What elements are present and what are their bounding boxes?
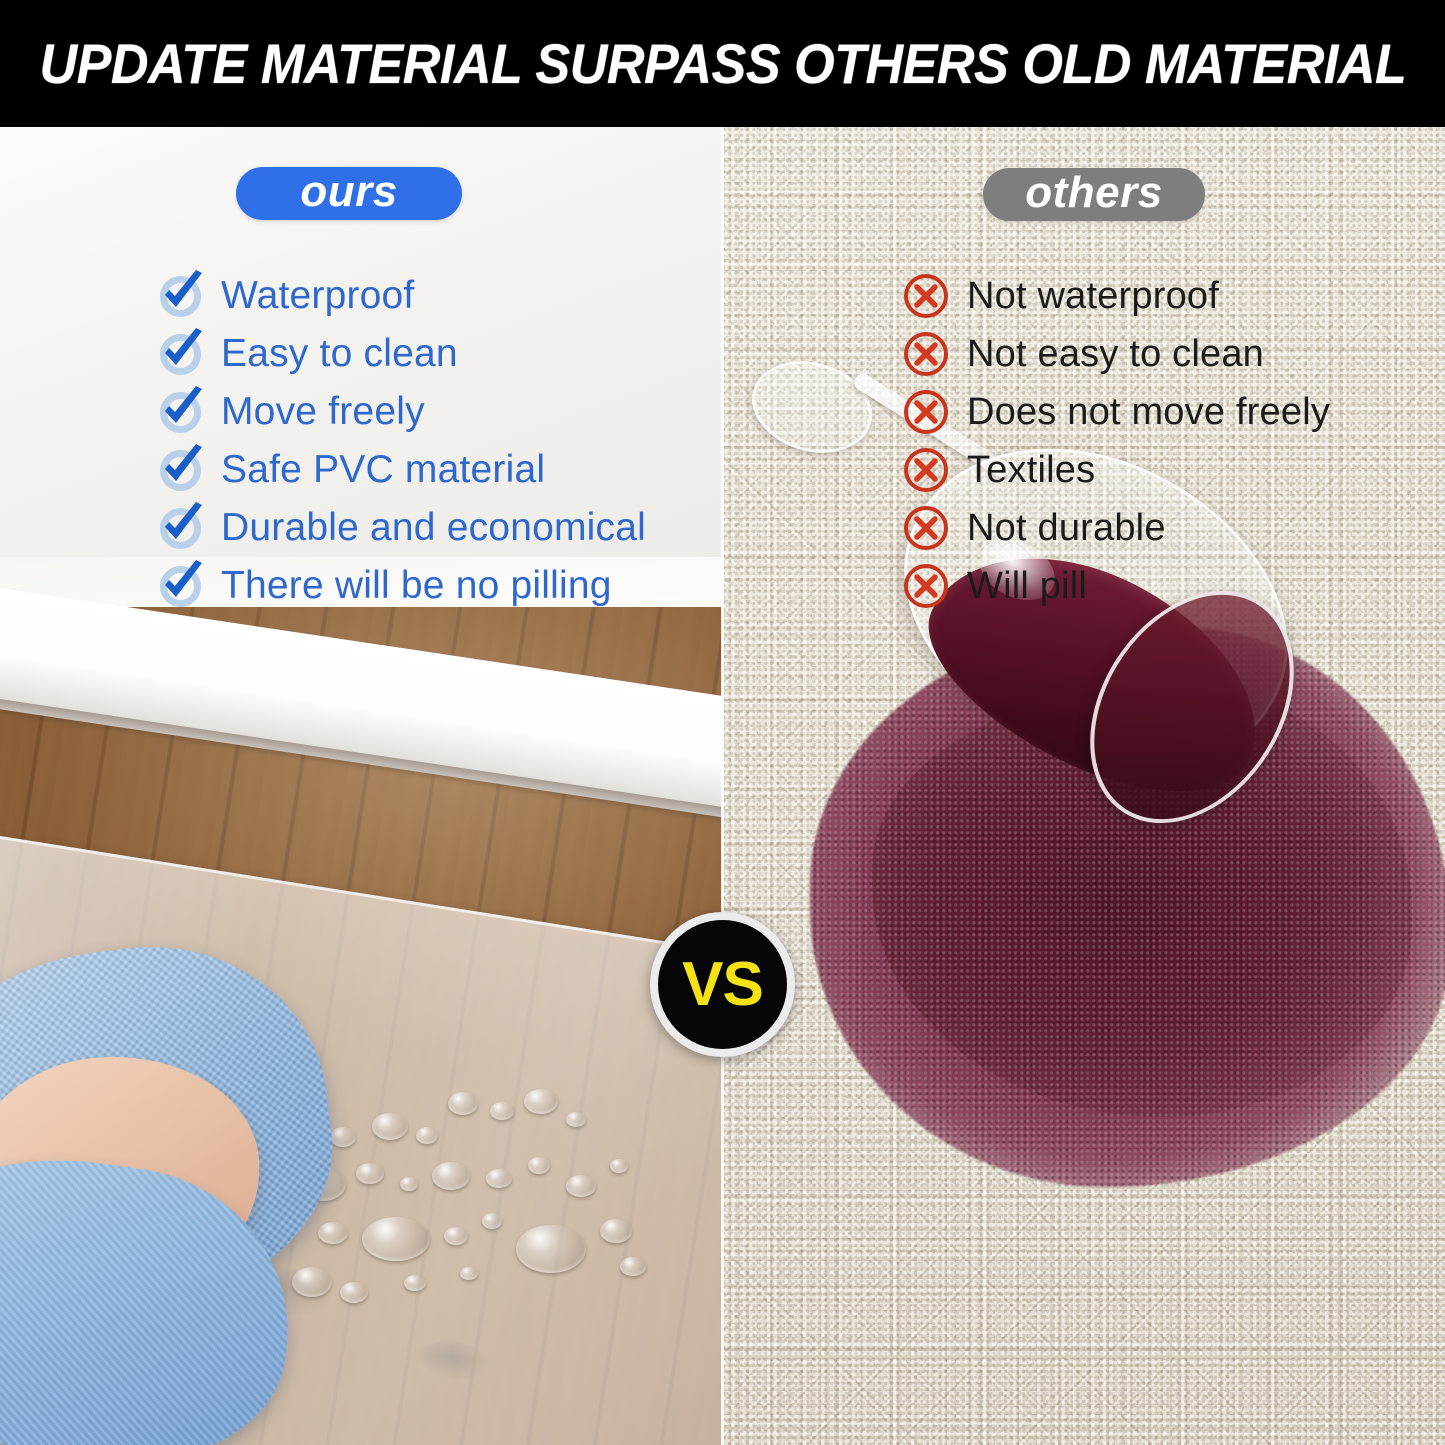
text-overlay: ours others Waterproof Easy to clean	[0, 127, 1445, 1445]
check-icon	[155, 444, 207, 496]
feature-label: Textiles	[967, 449, 1095, 492]
ours-feature-list: Waterproof Easy to clean Move freely	[155, 267, 646, 615]
feature-label: Durable and economical	[221, 506, 646, 550]
check-icon	[155, 560, 207, 612]
feature-label: Not durable	[967, 507, 1166, 550]
feature-label: Safe PVC material	[221, 448, 545, 492]
list-item: Not easy to clean	[903, 325, 1330, 383]
list-item: There will be no pilling	[155, 557, 646, 615]
ours-badge: ours	[236, 167, 462, 220]
list-item: Easy to clean	[155, 325, 646, 383]
vs-badge: VS	[650, 912, 795, 1057]
vs-badge-label: VS	[682, 949, 763, 1020]
feature-label: Does not move freely	[967, 391, 1330, 434]
x-icon	[903, 505, 949, 551]
feature-label: Waterproof	[221, 274, 414, 318]
list-item: Does not move freely	[903, 383, 1330, 441]
list-item: Waterproof	[155, 267, 646, 325]
x-icon	[903, 273, 949, 319]
infographic-stage: UPDATE MATERIAL SURPASS OTHERS OLD MATER…	[0, 0, 1445, 1445]
others-badge: others	[983, 168, 1205, 221]
ours-badge-label: ours	[300, 167, 397, 217]
header-bar: UPDATE MATERIAL SURPASS OTHERS OLD MATER…	[0, 0, 1445, 127]
x-icon	[903, 563, 949, 609]
check-icon	[155, 502, 207, 554]
x-icon	[903, 389, 949, 435]
x-icon	[903, 447, 949, 493]
list-item: Durable and economical	[155, 499, 646, 557]
check-icon	[155, 270, 207, 322]
feature-label: Not easy to clean	[967, 333, 1264, 376]
check-icon	[155, 386, 207, 438]
list-item: Move freely	[155, 383, 646, 441]
page-title: UPDATE MATERIAL SURPASS OTHERS OLD MATER…	[39, 31, 1406, 96]
list-item: Not durable	[903, 499, 1330, 557]
feature-label: Move freely	[221, 390, 425, 434]
list-item: Textiles	[903, 441, 1330, 499]
list-item: Will pill	[903, 557, 1330, 615]
others-badge-label: others	[1025, 168, 1162, 218]
feature-label: Will pill	[967, 565, 1087, 608]
list-item: Safe PVC material	[155, 441, 646, 499]
feature-label: Not waterproof	[967, 275, 1219, 318]
list-item: Not waterproof	[903, 267, 1330, 325]
check-icon	[155, 328, 207, 380]
x-icon	[903, 331, 949, 377]
others-feature-list: Not waterproof Not easy to clean Does no…	[903, 267, 1330, 615]
feature-label: Easy to clean	[221, 332, 458, 376]
feature-label: There will be no pilling	[221, 564, 612, 608]
